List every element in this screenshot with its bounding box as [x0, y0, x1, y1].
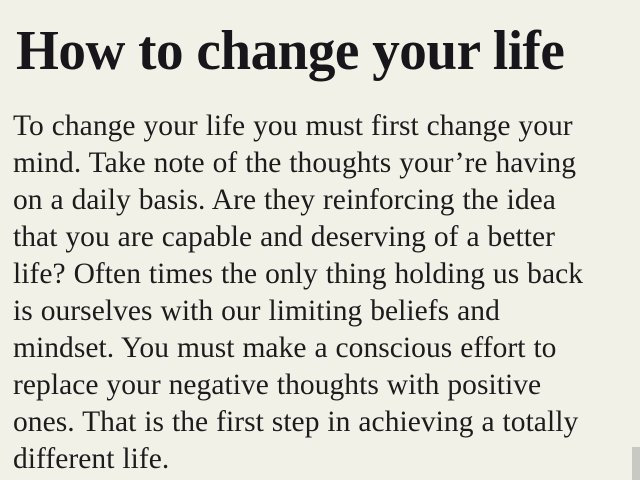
body-line: different life.	[13, 441, 637, 478]
body-line: To change your life you must first chang…	[13, 108, 637, 145]
body-line: that you are capable and deserving of a …	[13, 219, 637, 256]
body-line: mind. Take note of the thoughts your’re …	[13, 145, 637, 182]
body-line: on a daily basis. Are they reinforcing t…	[13, 182, 637, 219]
page-title: How to change your life	[16, 18, 621, 84]
body-line: replace your negative thoughts with posi…	[13, 367, 637, 404]
body-line: is ourselves with our limiting beliefs a…	[13, 293, 637, 330]
edge-strip-artifact	[632, 447, 640, 480]
body-line: life? Often times the only thing holding…	[13, 256, 637, 293]
quote-card: How to change your life To change your l…	[0, 0, 640, 480]
body-line: mindset. You must make a conscious effor…	[13, 330, 637, 367]
quote-body-text: To change your life you must first chang…	[13, 108, 637, 478]
body-line: ones. That is the first step in achievin…	[13, 404, 637, 441]
